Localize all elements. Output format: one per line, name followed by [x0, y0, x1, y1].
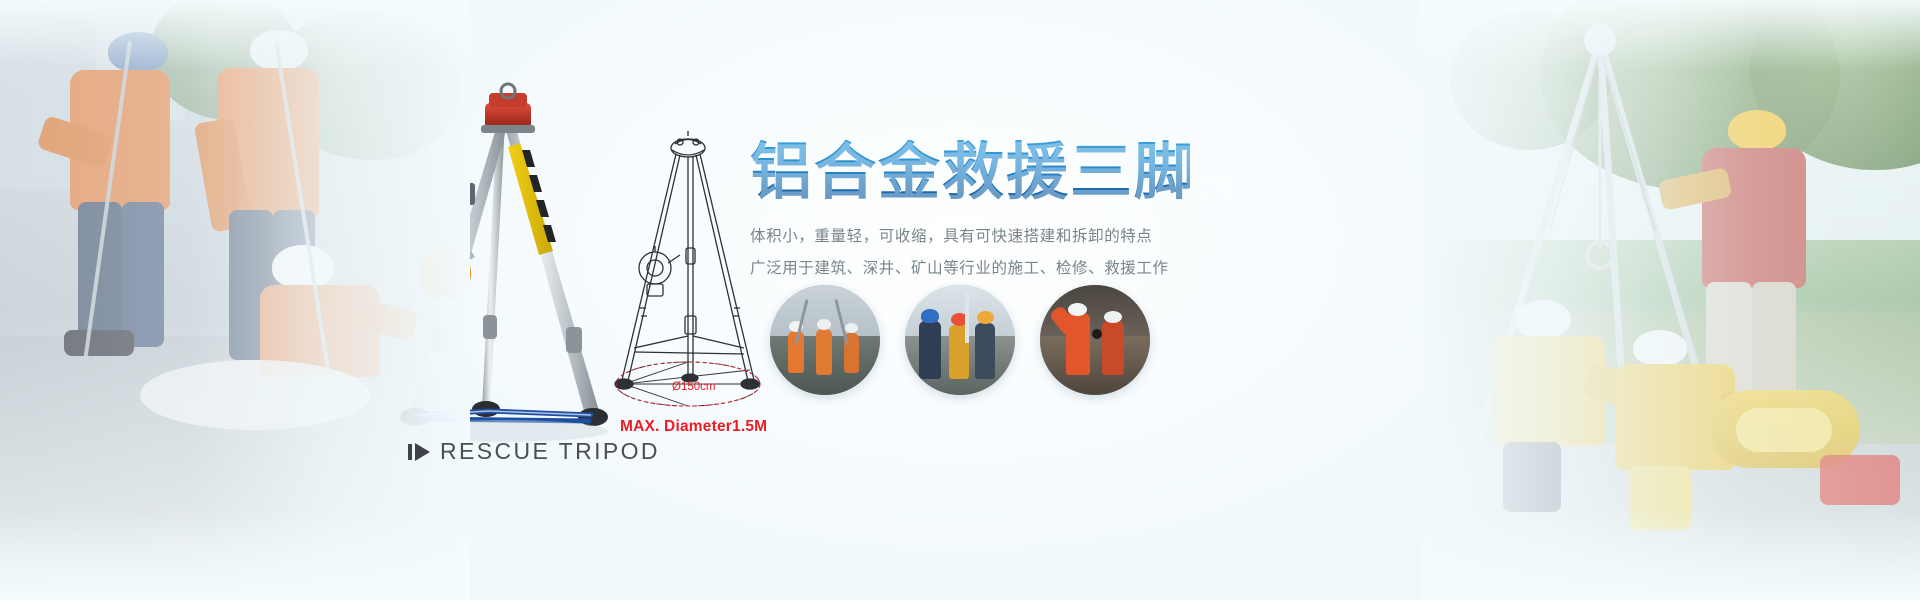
- photo-thumbnail-rescue-team-training[interactable]: [770, 285, 880, 395]
- photo-thumbnail-workers-inspection[interactable]: [905, 285, 1015, 395]
- product-label: RESCUE TRIPOD: [408, 438, 660, 465]
- page-title: 铝合金救援三脚架: [750, 140, 1190, 206]
- product-label-text: RESCUE TRIPOD: [440, 438, 660, 465]
- side-photo-right: [1420, 0, 1920, 600]
- diagram-caption: MAX. Diameter1.5M: [620, 418, 767, 436]
- diagram-dimension: Ø150cm: [672, 381, 715, 393]
- subtitle-line-2: 广泛用于建筑、深井、矿山等行业的施工、检修、救援工作: [750, 254, 1150, 284]
- photo-thumbnail-confined-space-rescue[interactable]: [1040, 285, 1150, 395]
- play-marker-icon: [408, 443, 430, 461]
- product-photo-tripod: [385, 75, 635, 475]
- subtitle-line-1: 体积小，重量轻，可收缩，具有可快速搭建和拆卸的特点: [750, 222, 1150, 252]
- photo-thumbnail-row: [770, 285, 1150, 395]
- product-banner: RESCUE TRIPOD: [0, 0, 1920, 600]
- copy-block: 铝合金救援三脚架 体积小，重量轻，可收缩，具有可快速搭建和拆卸的特点 广泛用于建…: [750, 140, 1190, 284]
